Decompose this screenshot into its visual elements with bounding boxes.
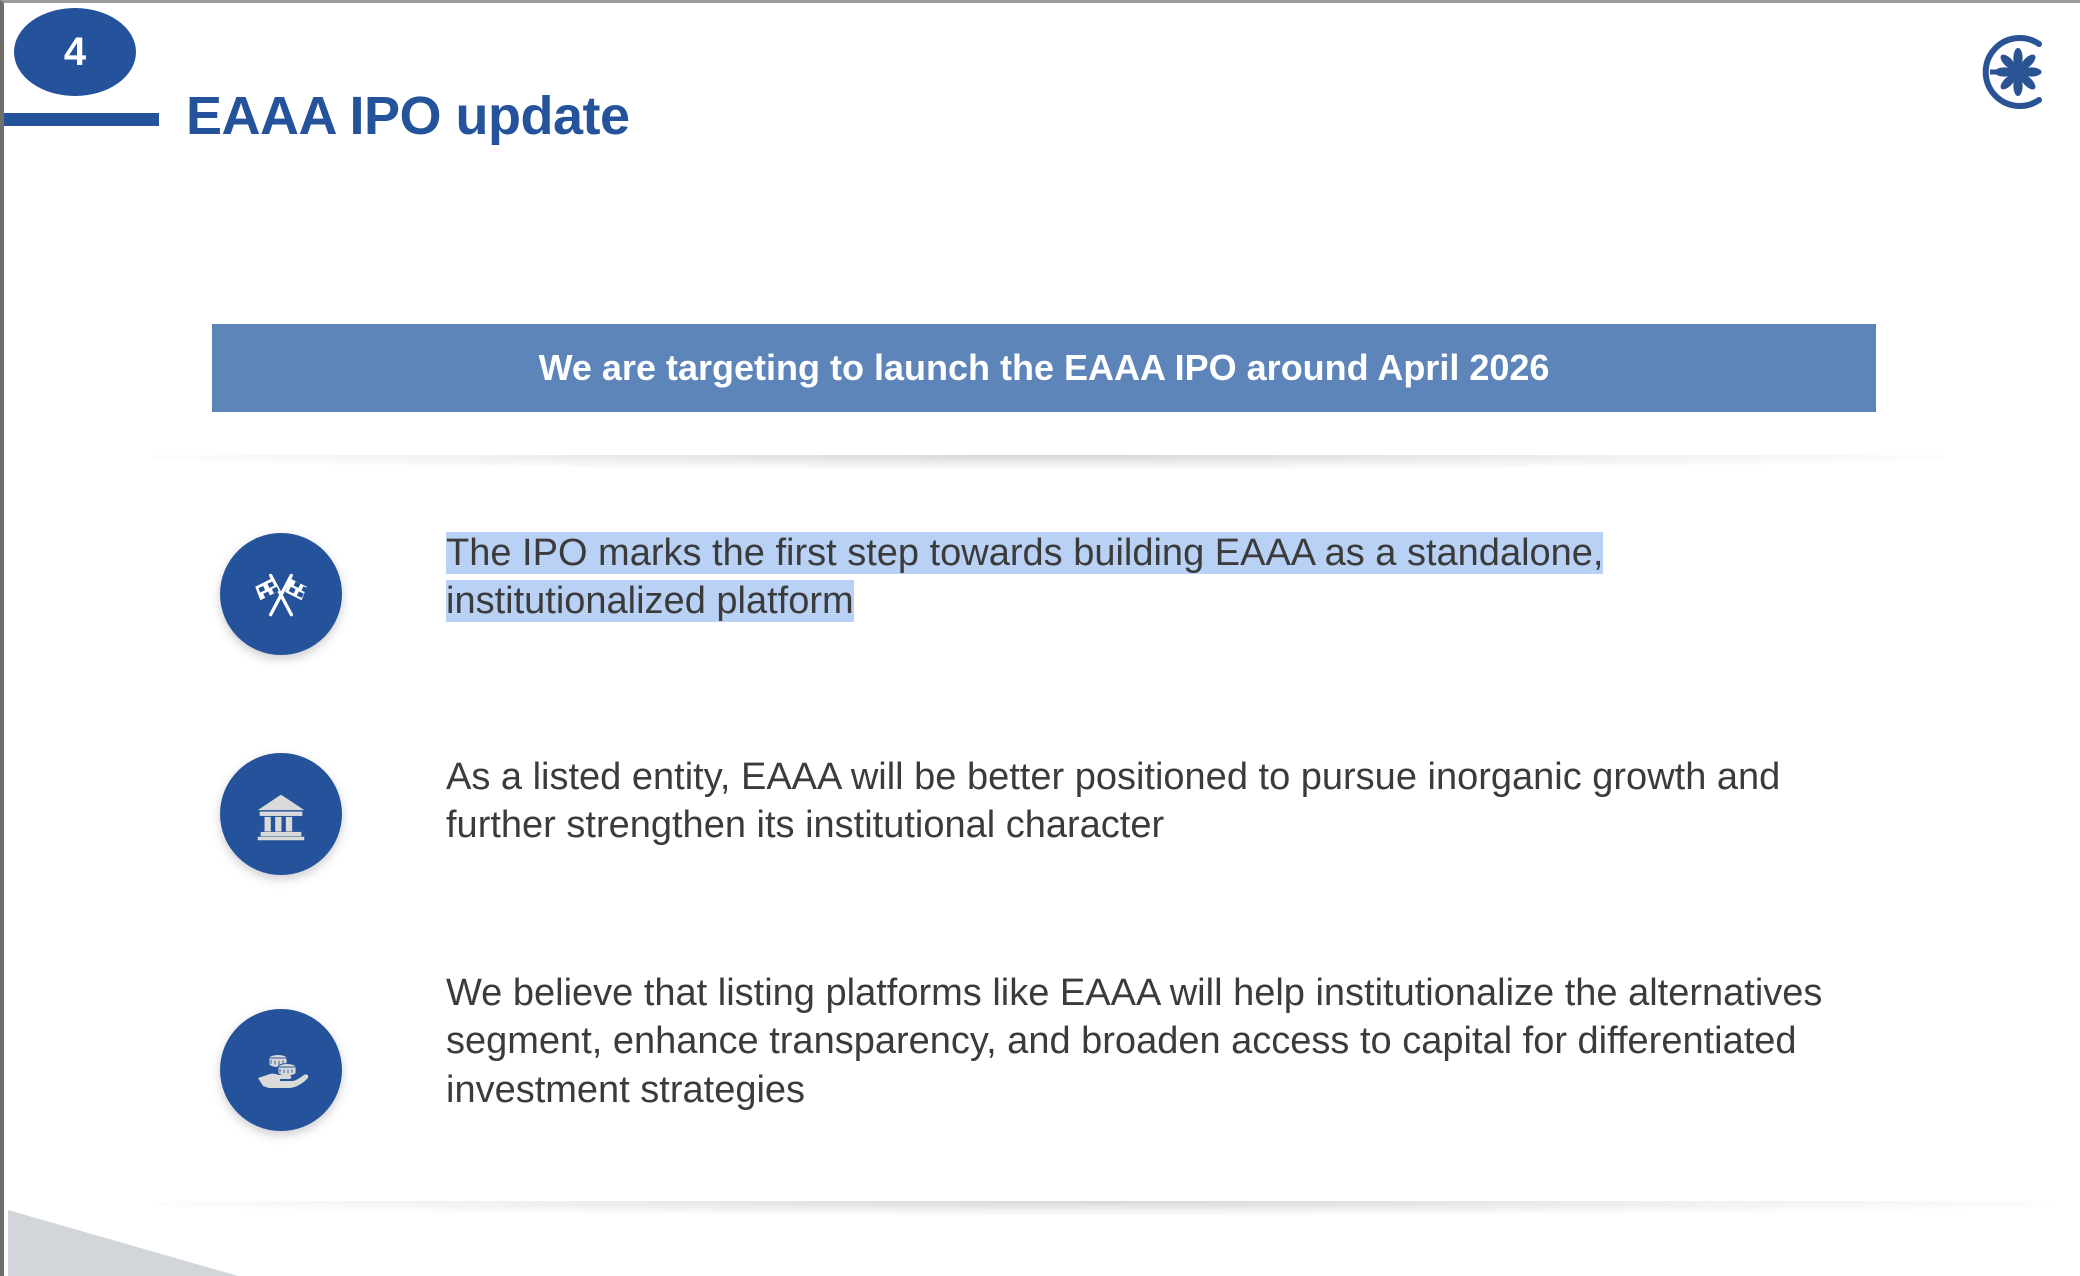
- list-item: As a listed entity, EAAA will be better …: [4, 747, 2080, 875]
- page-number-badge: 4: [14, 8, 136, 96]
- corner-decoration: [8, 1210, 238, 1276]
- presentation-slide: 4 EAAA IPO update We are targeting to la…: [0, 0, 2080, 1276]
- selected-text-highlight: The IPO marks the first step towards bui…: [446, 532, 1603, 622]
- hand-holding-coins-icon: [220, 1009, 342, 1131]
- page-number-label: 4: [64, 32, 86, 72]
- list-item-text: As a listed entity, EAAA will be better …: [446, 747, 1844, 850]
- section-divider: [154, 455, 1944, 469]
- footer-divider: [154, 1201, 2054, 1215]
- list-item-text: The IPO marks the first step towards bui…: [446, 523, 1844, 626]
- bank-building-icon: [220, 753, 342, 875]
- list-item-text: We believe that listing platforms like E…: [446, 963, 1844, 1114]
- bullet-list: The IPO marks the first step towards bui…: [4, 523, 2080, 1131]
- list-item: The IPO marks the first step towards bui…: [4, 523, 2080, 655]
- headline-banner-text: We are targeting to launch the EAAA IPO …: [539, 347, 1550, 389]
- headline-banner: We are targeting to launch the EAAA IPO …: [212, 324, 1876, 412]
- asterisk-in-open-circle-logo-icon: [1970, 27, 2060, 117]
- list-item: We believe that listing platforms like E…: [4, 963, 2080, 1131]
- page-title: EAAA IPO update: [186, 85, 630, 147]
- checkered-racing-flags-icon: [220, 533, 342, 655]
- title-accent-rule: [4, 113, 159, 126]
